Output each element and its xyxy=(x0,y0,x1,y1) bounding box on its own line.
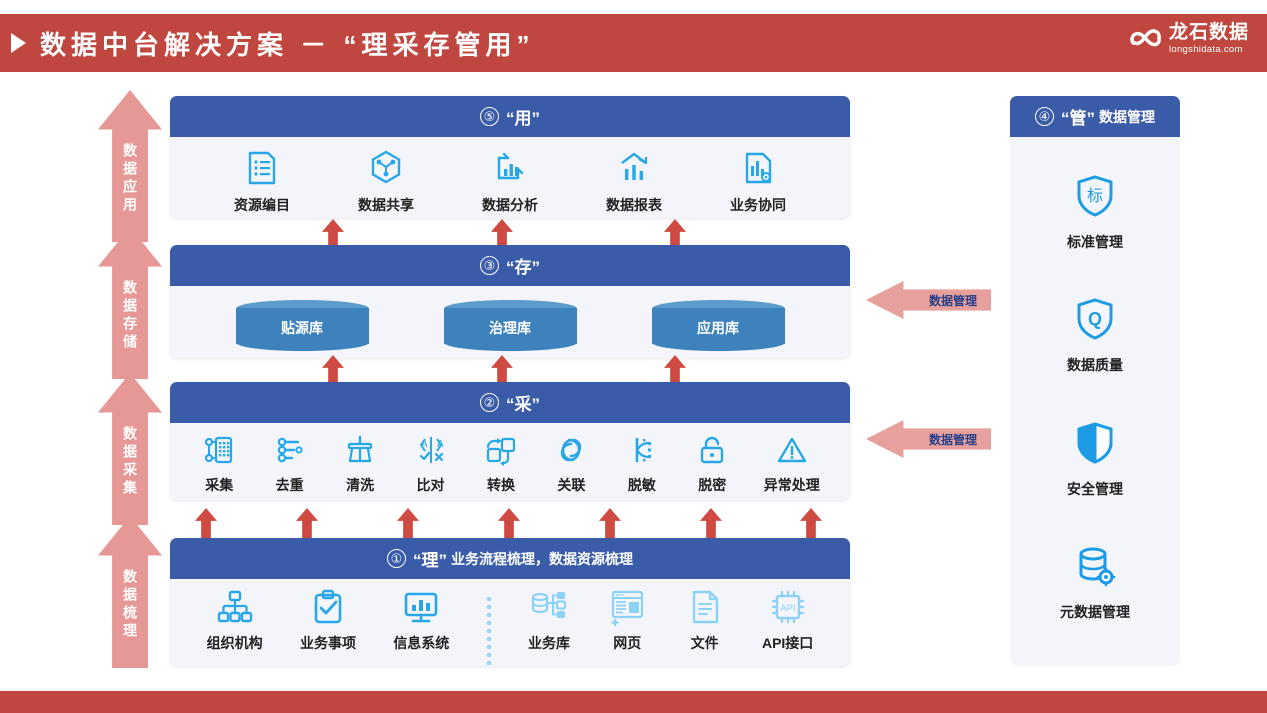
compare-icon: A A xyxy=(412,431,450,469)
title-bar: 数据中台解决方案 － “理采存管用” 龙石数据 longshidata.com xyxy=(0,14,1267,72)
stage-body-collect: 采集 去重 xyxy=(170,423,850,495)
connector-arrow-up xyxy=(498,508,520,542)
file-document-icon xyxy=(685,587,725,627)
item-label: 业务事项 xyxy=(300,633,356,653)
cylinder-label: 贴源库 xyxy=(236,312,369,344)
trend-report-icon xyxy=(613,147,655,189)
mgmt-arrow-storage: 数据管理 xyxy=(866,281,991,319)
stage-title: “管” xyxy=(1061,104,1095,129)
api-chip-icon: API xyxy=(768,587,808,627)
left-arrow-data-organize: 数据梳理 xyxy=(98,516,162,668)
transform-icon xyxy=(482,431,520,469)
item-dedupe[interactable]: 去重 xyxy=(271,431,309,495)
stage-number: ⑤ xyxy=(480,107,499,126)
item-decrypt[interactable]: 脱密 xyxy=(693,431,731,495)
item-organization[interactable]: 组织机构 xyxy=(207,587,263,653)
item-label: 异常处理 xyxy=(764,475,820,495)
item-label: 信息系统 xyxy=(393,633,449,653)
left-arrow-data-storage: 数据存储 xyxy=(98,227,162,379)
left-arrow-label: 数据采集 xyxy=(120,426,140,498)
stage-body-use: 资源编目 数据共享 xyxy=(170,137,850,215)
stage-header-organize: ① “理” 业务流程梳理，数据资源梳理 xyxy=(170,538,850,579)
dedupe-icon xyxy=(271,431,309,469)
item-data-analysis[interactable]: 数据分析 xyxy=(482,147,538,215)
item-api-interface[interactable]: API API接口 xyxy=(762,587,813,653)
analysis-chart-icon xyxy=(489,147,531,189)
database-cylinder-application[interactable]: 应用库 xyxy=(652,300,785,352)
item-label: 数据分析 xyxy=(482,195,538,215)
cylinder-label: 应用库 xyxy=(652,312,785,344)
stage-title: “用” xyxy=(506,104,540,129)
item-label: 网页 xyxy=(613,633,641,653)
warning-triangle-icon xyxy=(773,431,811,469)
item-business-matters[interactable]: 业务事项 xyxy=(300,587,356,653)
item-label: 标准管理 xyxy=(1067,232,1123,252)
stage-title: “理” xyxy=(413,546,447,571)
stage-block-use[interactable]: ⑤ “用” 资源编目 xyxy=(170,96,850,218)
item-label: API接口 xyxy=(762,633,813,653)
slide-canvas: 数据中台解决方案 － “理采存管用” 龙石数据 longshidata.com … xyxy=(0,0,1267,713)
item-label: 元数据管理 xyxy=(1060,602,1130,622)
item-mask-sensitive[interactable]: 脱敏 xyxy=(623,431,661,495)
item-label: 业务库 xyxy=(528,633,570,653)
item-label: 比对 xyxy=(417,475,445,495)
item-security-management[interactable]: 安全管理 xyxy=(1067,420,1123,499)
collect-icon xyxy=(200,431,238,469)
svg-text:Q: Q xyxy=(1088,309,1102,329)
org-tree-icon xyxy=(215,587,255,627)
item-label: 数据质量 xyxy=(1067,355,1123,375)
longshi-wave-logo-icon xyxy=(1129,26,1163,52)
item-label: 数据报表 xyxy=(606,195,662,215)
item-label: 文件 xyxy=(691,633,719,653)
left-arrow-label: 数据梳理 xyxy=(120,569,140,641)
database-cylinder-source[interactable]: 贴源库 xyxy=(236,300,369,352)
stage-block-collect[interactable]: ② “采” xyxy=(170,382,850,500)
unlock-decrypt-icon xyxy=(693,431,731,469)
item-label: 安全管理 xyxy=(1067,479,1123,499)
play-triangle-icon xyxy=(11,33,26,53)
connector-arrow-up xyxy=(599,508,621,542)
mgmt-arrow-label: 数据管理 xyxy=(929,292,977,309)
broom-clean-icon xyxy=(341,431,379,469)
stage-number: ① xyxy=(387,549,406,568)
stage-block-store[interactable]: ③ “存” 贴源库 治理库 应用库 xyxy=(170,245,850,358)
connector-arrow-up xyxy=(296,508,318,542)
shield-security-icon xyxy=(1072,420,1118,471)
bottom-bar xyxy=(0,691,1267,713)
item-information-system[interactable]: 信息系统 xyxy=(393,587,449,653)
item-business-collaboration[interactable]: 业务协同 xyxy=(730,147,786,215)
item-label: 采集 xyxy=(205,475,233,495)
item-metadata-management[interactable]: 元数据管理 xyxy=(1060,543,1130,622)
database-cylinder-governance[interactable]: 治理库 xyxy=(444,300,577,352)
connector-arrow-up xyxy=(397,508,419,542)
cylinder-label: 治理库 xyxy=(444,312,577,344)
item-label: 清洗 xyxy=(346,475,374,495)
connector-arrow-up xyxy=(700,508,722,542)
left-arrow-label: 数据应用 xyxy=(120,143,140,215)
item-relate[interactable]: 关联 xyxy=(552,431,590,495)
clipboard-check-icon xyxy=(308,587,348,627)
collaboration-board-icon xyxy=(737,147,779,189)
shield-standard-icon: 标 xyxy=(1072,173,1118,224)
mgmt-arrow-collect: 数据管理 xyxy=(866,420,991,458)
monitor-chart-icon xyxy=(401,587,441,627)
stage-subtitle: 业务流程梳理，数据资源梳理 xyxy=(451,549,633,569)
document-list-icon xyxy=(241,147,283,189)
left-arrow-data-collection: 数据采集 xyxy=(98,373,162,525)
item-clean[interactable]: 清洗 xyxy=(341,431,379,495)
database-gear-icon xyxy=(1072,543,1118,594)
stage-block-organize[interactable]: ① “理” 业务流程梳理，数据资源梳理 组织机构 xyxy=(170,538,850,666)
stage-header-collect: ② “采” xyxy=(170,382,850,423)
stage-subtitle: 数据管理 xyxy=(1099,107,1155,127)
stage-block-manage[interactable]: ④ “管” 数据管理 标 标准管理 Q xyxy=(1010,96,1180,666)
item-collect[interactable]: 采集 xyxy=(200,431,238,495)
stage-number: ③ xyxy=(480,256,499,275)
item-file[interactable]: 文件 xyxy=(685,587,725,653)
item-label: 关联 xyxy=(557,475,585,495)
mask-sensitive-icon xyxy=(623,431,661,469)
item-data-report[interactable]: 数据报表 xyxy=(606,147,662,215)
stage-body-manage: 标 标准管理 Q 数据质量 xyxy=(1010,137,1180,666)
stage-header-manage: ④ “管” 数据管理 xyxy=(1010,96,1180,137)
stage-body-organize: 组织机构 业务事项 xyxy=(170,579,850,665)
mgmt-arrow-label: 数据管理 xyxy=(929,431,977,448)
stage-number: ② xyxy=(480,393,499,412)
shield-quality-q-icon: Q xyxy=(1072,296,1118,347)
stage-number: ④ xyxy=(1035,107,1054,126)
item-label: 脱敏 xyxy=(628,475,656,495)
hexagon-share-icon xyxy=(365,147,407,189)
left-arrow-label: 数据存储 xyxy=(120,280,140,352)
item-business-database[interactable]: 业务库 xyxy=(528,587,570,653)
database-nodes-icon xyxy=(529,587,569,627)
svg-text:标: 标 xyxy=(1087,187,1103,205)
stage-title: “存” xyxy=(506,253,540,278)
dotted-divider xyxy=(487,587,491,665)
item-label: 转换 xyxy=(487,475,515,495)
logo-name-en: longshidata.com xyxy=(1169,45,1249,55)
connector-arrow-up xyxy=(195,508,217,542)
item-webpage[interactable]: 网页 xyxy=(607,587,647,653)
stage-header-use: ⑤ “用” xyxy=(170,96,850,137)
connector-arrow-up xyxy=(800,508,822,542)
item-standard-management[interactable]: 标 标准管理 xyxy=(1067,173,1123,252)
stage-header-store: ③ “存” xyxy=(170,245,850,286)
link-relate-icon xyxy=(552,431,590,469)
left-arrow-rail: 数据应用 数据存储 数据采集 数据梳理 xyxy=(98,90,162,668)
item-data-sharing[interactable]: 数据共享 xyxy=(358,147,414,215)
brand-logo: 龙石数据 longshidata.com xyxy=(1129,23,1249,55)
item-label: 数据共享 xyxy=(358,195,414,215)
item-data-quality[interactable]: Q 数据质量 xyxy=(1067,296,1123,375)
webpage-icon xyxy=(607,587,647,627)
logo-name-cn: 龙石数据 xyxy=(1169,23,1249,42)
item-exception-handling[interactable]: 异常处理 xyxy=(764,431,820,495)
item-label: 资源编目 xyxy=(234,195,290,215)
item-transform[interactable]: 转换 xyxy=(482,431,520,495)
item-label: 去重 xyxy=(276,475,304,495)
stage-title: “采” xyxy=(506,390,540,415)
left-arrow-data-application: 数据应用 xyxy=(98,90,162,242)
item-compare[interactable]: A A 比对 xyxy=(412,431,450,495)
item-label: 业务协同 xyxy=(730,195,786,215)
item-label: 脱密 xyxy=(698,475,726,495)
stage-body-store: 贴源库 治理库 应用库 xyxy=(170,286,850,352)
item-label: 组织机构 xyxy=(207,633,263,653)
svg-text:API: API xyxy=(780,603,795,614)
page-title: 数据中台解决方案 － “理采存管用” xyxy=(40,25,534,62)
item-resource-catalog[interactable]: 资源编目 xyxy=(234,147,290,215)
